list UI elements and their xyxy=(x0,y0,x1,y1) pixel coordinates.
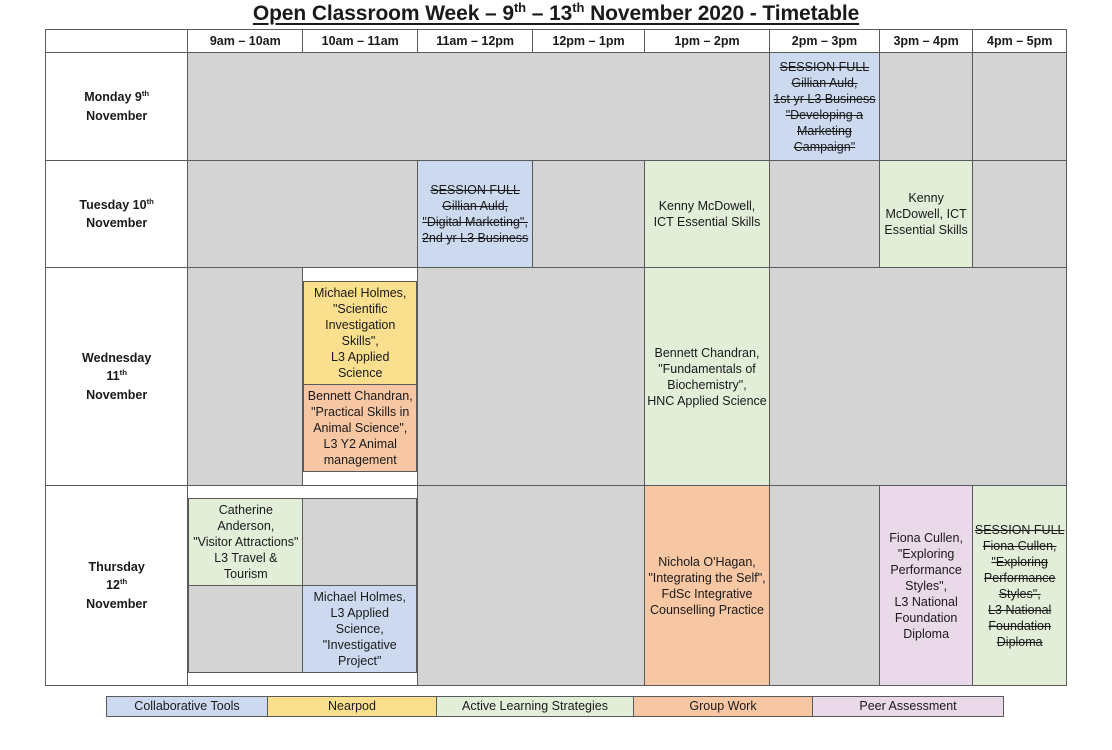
session-tutor: Kenny McDowell, ICT xyxy=(880,190,973,222)
title-part2: – 13 xyxy=(526,2,572,25)
day-label-wednesday-month: November xyxy=(86,388,147,402)
day-label-monday-name: Monday 9 xyxy=(84,90,142,104)
session-topic: "Investigative Project" xyxy=(306,637,413,669)
day-label-thursday-sup: th xyxy=(120,577,127,586)
session-course: L3 Y2 Animal management xyxy=(307,436,413,468)
session-topic: "Scientific Investigation Skills", xyxy=(307,301,413,349)
day-label-thursday: Thursday 12th November xyxy=(46,486,188,686)
session-tutor: Catherine Anderson, xyxy=(192,502,299,534)
slot-tuesday-12pm-empty[interactable] xyxy=(533,161,645,268)
title-part3: November 2020 - Timetable xyxy=(584,2,859,25)
header-time-3pm: 3pm – 4pm xyxy=(879,30,973,53)
session-tutor: Kenny McDowell, xyxy=(645,198,769,214)
session-tutor: Nichola O'Hagan, xyxy=(645,554,769,570)
session-tutor: Michael Holmes, xyxy=(306,589,413,605)
table-row-wednesday: Wednesday 11th November Michael Holmes, … xyxy=(46,268,1067,486)
session-course: L3 Applied Science, xyxy=(306,605,413,637)
slot-tuesday-9am-11am-empty[interactable] xyxy=(188,161,418,268)
day-label-thursday-name: Thursday xyxy=(89,560,145,574)
timetable-page: Open Classroom Week – 9th – 13th Novembe… xyxy=(0,0,1112,750)
header-time-4pm: 4pm – 5pm xyxy=(973,30,1067,53)
session-tutor: Fiona Cullen, xyxy=(880,530,973,546)
session-course: 2nd yr L3 Business xyxy=(418,230,532,246)
legend-item-nearpod[interactable]: Nearpod xyxy=(267,696,437,717)
session-topic: "Practical Skills in Animal Science", xyxy=(307,404,413,436)
day-label-tuesday: Tuesday 10th November xyxy=(46,161,188,268)
session-tutor: Gillian Auld, xyxy=(418,198,532,214)
legend: Collaborative Tools Nearpod Active Learn… xyxy=(106,696,1006,717)
title-sup2: th xyxy=(572,0,584,15)
day-label-wednesday-name: Wednesday xyxy=(82,351,151,365)
title-sup1: th xyxy=(514,0,526,15)
table-row-tuesday: Tuesday 10th November SESSION FULL Gilli… xyxy=(46,161,1067,268)
session-tutor: Bennett Chandran, xyxy=(307,388,413,404)
day-label-wednesday: Wednesday 11th November xyxy=(46,268,188,486)
day-label-tuesday-name: Tuesday 10 xyxy=(79,198,146,212)
slot-tuesday-2pm-empty[interactable] xyxy=(770,161,880,268)
legend-item-peer-assessment[interactable]: Peer Assessment xyxy=(812,696,1004,717)
legend-item-active-learning-strategies[interactable]: Active Learning Strategies xyxy=(436,696,634,717)
session-course: L3 Travel & Tourism xyxy=(192,550,299,582)
day-label-monday-sup: th xyxy=(142,89,149,98)
table-row-monday: Monday 9th November SESSION FULL Gillian… xyxy=(46,53,1067,161)
session-course: HNC Applied Science xyxy=(645,393,769,409)
session-status-full: SESSION FULL xyxy=(973,522,1066,538)
session-course: Essential Skills xyxy=(880,222,973,238)
header-time-2pm: 2pm – 3pm xyxy=(770,30,880,53)
table-header-row: 9am – 10am 10am – 11am 11am – 12pm 12pm … xyxy=(46,30,1067,53)
header-time-9am: 9am – 10am xyxy=(188,30,303,53)
session-status-full: SESSION FULL xyxy=(770,59,879,75)
day-label-wednesday-sup: th xyxy=(120,368,127,377)
session-tutor: Michael Holmes, xyxy=(307,285,413,301)
day-label-thursday-month: November xyxy=(86,597,147,611)
slot-thursday-11am-1pm-empty[interactable] xyxy=(418,486,645,686)
session-topic: "Developing a Marketing Campaign" xyxy=(770,107,879,155)
slot-tuesday-4pm-empty[interactable] xyxy=(973,161,1067,268)
session-course: L3 National Foundation Diploma xyxy=(973,602,1066,650)
session-course: FdSc Integrative Counselling Practice xyxy=(645,586,769,618)
slot-thursday-2pm-empty[interactable] xyxy=(770,486,880,686)
slot-wednesday-11am-1pm-empty[interactable] xyxy=(418,268,645,486)
slot-wednesday-10am-bottom[interactable]: Bennett Chandran, "Practical Skills in A… xyxy=(304,385,417,472)
slot-thursday-10am-empty-top[interactable] xyxy=(303,499,417,586)
slot-thursday-9am-11am-split: Catherine Anderson, "Visitor Attractions… xyxy=(188,486,418,686)
slot-thursday-1pm[interactable]: Nichola O'Hagan, "Integrating the Self",… xyxy=(644,486,769,686)
legend-item-group-work[interactable]: Group Work xyxy=(633,696,813,717)
session-course: L3 Applied Science xyxy=(307,349,413,381)
slot-wednesday-10am-top[interactable]: Michael Holmes, "Scientific Investigatio… xyxy=(304,282,417,385)
header-time-10am: 10am – 11am xyxy=(303,30,418,53)
slot-thursday-9am[interactable]: Catherine Anderson, "Visitor Attractions… xyxy=(189,499,303,586)
slot-thursday-10am[interactable]: Michael Holmes, L3 Applied Science, "Inv… xyxy=(303,586,417,673)
slot-wednesday-10am-split: Michael Holmes, "Scientific Investigatio… xyxy=(303,268,418,486)
page-title: Open Classroom Week – 9th – 13th Novembe… xyxy=(0,2,1112,26)
session-status-full: SESSION FULL xyxy=(418,182,532,198)
slot-tuesday-11am[interactable]: SESSION FULL Gillian Auld, "Digital Mark… xyxy=(418,161,533,268)
slot-monday-9am-2pm-empty[interactable] xyxy=(188,53,770,161)
session-tutor: Gillian Auld, xyxy=(770,75,879,91)
session-course: L3 National Foundation Diploma xyxy=(880,594,973,642)
slot-monday-2pm[interactable]: SESSION FULL Gillian Auld, 1st yr L3 Bus… xyxy=(770,53,880,161)
session-topic: "Exploring Performance Styles", xyxy=(973,554,1066,602)
session-topic: "Visitor Attractions" xyxy=(192,534,299,550)
session-tutor: Bennett Chandran, xyxy=(645,345,769,361)
slot-monday-3pm-empty[interactable] xyxy=(879,53,973,161)
slot-thursday-9am-empty-bottom[interactable] xyxy=(189,586,303,673)
slot-wednesday-2pm-5pm-empty[interactable] xyxy=(770,268,1067,486)
slot-monday-4pm-empty[interactable] xyxy=(973,53,1067,161)
day-label-monday: Monday 9th November xyxy=(46,53,188,161)
slot-wednesday-1pm[interactable]: Bennett Chandran, "Fundamentals of Bioch… xyxy=(644,268,769,486)
title-part1: Open Classroom Week – 9 xyxy=(253,2,514,25)
slot-thursday-4pm[interactable]: SESSION FULL Fiona Cullen, "Exploring Pe… xyxy=(973,486,1067,686)
session-topic: "Exploring Performance Styles", xyxy=(880,546,973,594)
day-label-wednesday-day: 11 xyxy=(106,369,119,383)
session-topic: "Digital Marketing", xyxy=(418,214,532,230)
table-row-thursday: Thursday 12th November Catherine Anderso… xyxy=(46,486,1067,686)
slot-tuesday-3pm[interactable]: Kenny McDowell, ICT Essential Skills xyxy=(879,161,973,268)
session-course: 1st yr L3 Business xyxy=(770,91,879,107)
session-tutor: Fiona Cullen, xyxy=(973,538,1066,554)
header-time-12pm: 12pm – 1pm xyxy=(533,30,645,53)
header-time-1pm: 1pm – 2pm xyxy=(644,30,769,53)
slot-tuesday-1pm[interactable]: Kenny McDowell, ICT Essential Skills xyxy=(644,161,769,268)
header-corner xyxy=(46,30,188,53)
session-course: ICT Essential Skills xyxy=(645,214,769,230)
header-time-11am: 11am – 12pm xyxy=(418,30,533,53)
day-label-monday-month: November xyxy=(86,109,147,123)
session-topic: "Fundamentals of Biochemistry", xyxy=(645,361,769,393)
day-label-thursday-day: 12 xyxy=(106,578,120,592)
session-topic: "Integrating the Self", xyxy=(645,570,769,586)
day-label-tuesday-sup: th xyxy=(147,197,154,206)
legend-item-collaborative-tools[interactable]: Collaborative Tools xyxy=(106,696,268,717)
day-label-tuesday-month: November xyxy=(86,216,147,230)
slot-wednesday-9am-empty[interactable] xyxy=(188,268,303,486)
slot-thursday-3pm[interactable]: Fiona Cullen, "Exploring Performance Sty… xyxy=(879,486,973,686)
timetable-grid: 9am – 10am 10am – 11am 11am – 12pm 12pm … xyxy=(45,29,1067,686)
